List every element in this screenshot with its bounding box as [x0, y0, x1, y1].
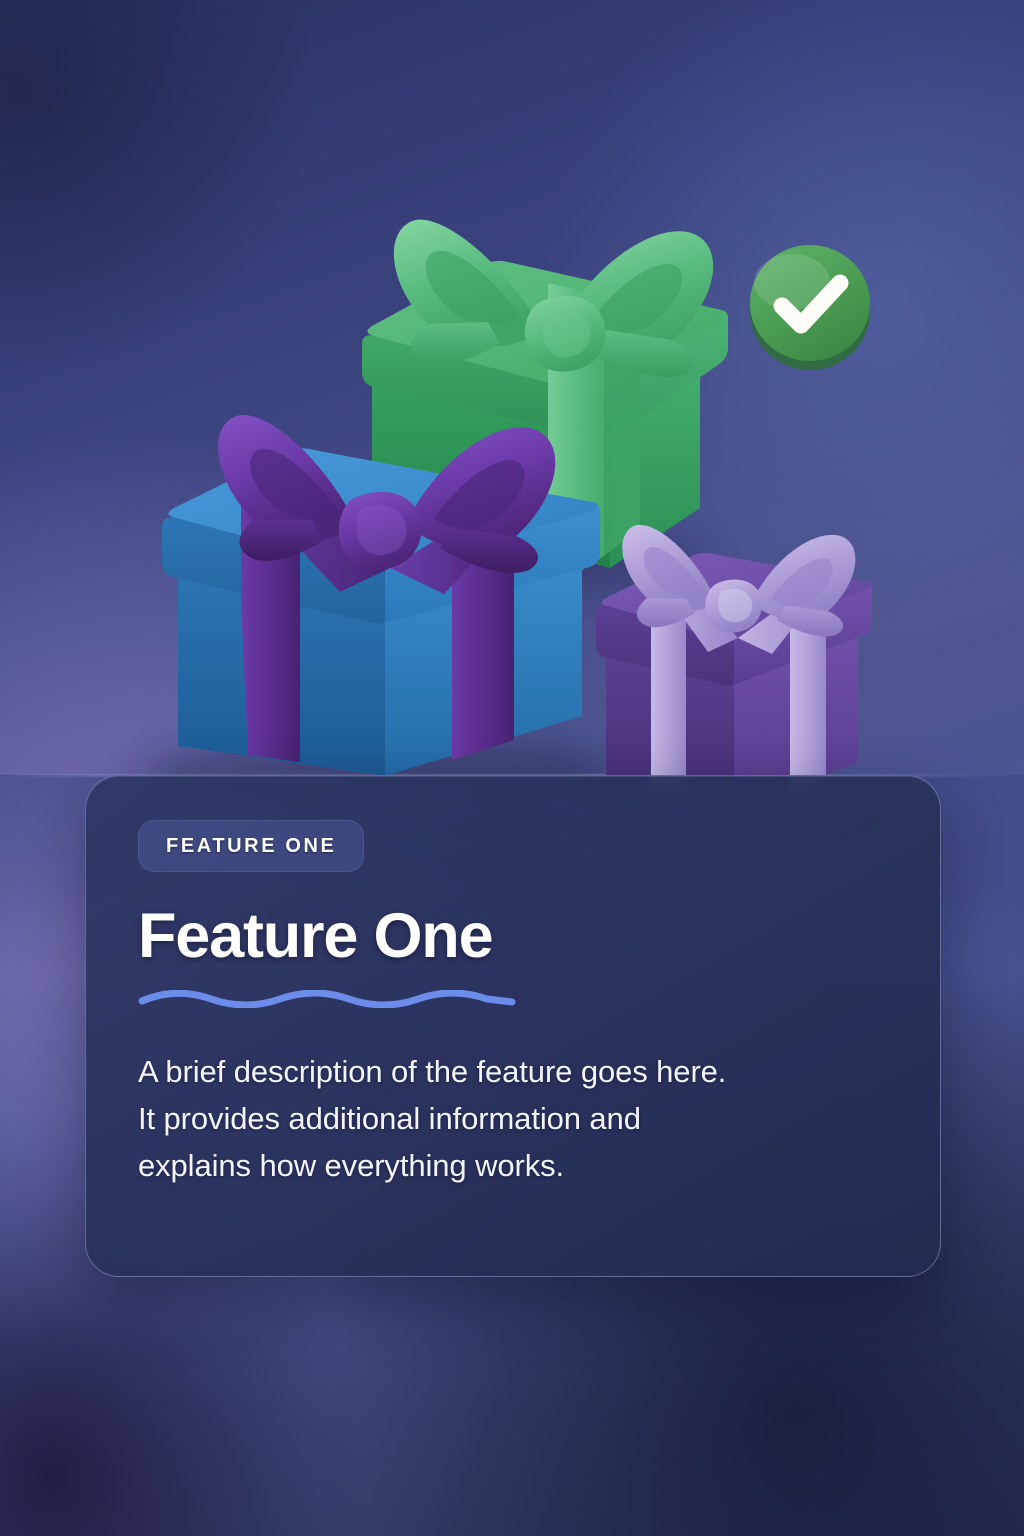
wavy-underline-path [142, 993, 512, 1005]
feature-description: A brief description of the feature goes … [138, 1048, 888, 1189]
check-badge [750, 245, 870, 370]
description-line-2: It provides additional information and [138, 1095, 888, 1142]
description-line-3: explains how everything works. [138, 1142, 888, 1189]
lavender-bow-knot-highlight [718, 589, 752, 622]
feature-badge: FEATURE ONE [138, 820, 364, 872]
hero-illustration [0, 0, 1024, 840]
blue-gift-box [162, 415, 600, 776]
small-purple-gift-box [596, 525, 872, 810]
feature-badge-label: FEATURE ONE [166, 835, 336, 858]
gift-boxes-svg [0, 0, 1024, 840]
feature-card: FEATURE ONE Feature One A brief descript… [85, 775, 941, 1277]
purple-bow-knot-highlight [357, 505, 407, 555]
page-title: Feature One [138, 904, 888, 968]
poster-canvas: FEATURE ONE Feature One A brief descript… [0, 0, 1024, 1536]
wavy-underline-accent [138, 990, 516, 1008]
description-line-1: A brief description of the feature goes … [138, 1048, 888, 1095]
